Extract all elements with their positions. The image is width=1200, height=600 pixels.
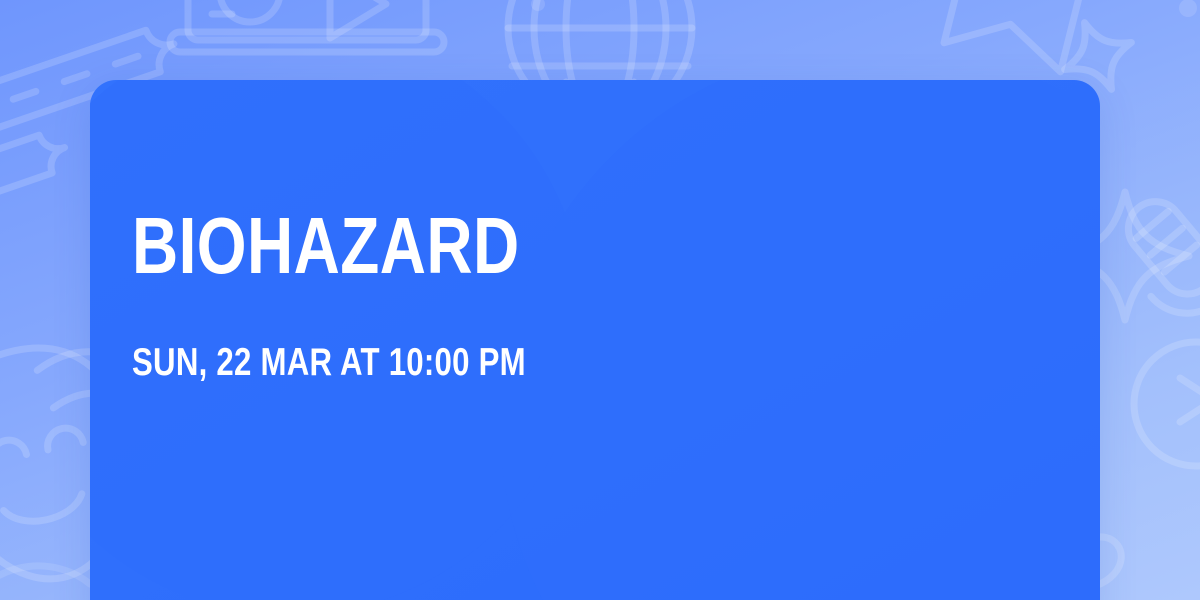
event-title: BIOHAZARD [132,204,520,288]
banner-icon [944,0,1086,72]
event-card-content: BIOHAZARD SUN, 22 MAR AT 10:00 PM [132,80,1060,600]
turntable-icon [170,0,444,52]
streamer-icon [0,566,90,600]
confetti-circle-icon [1134,342,1200,466]
dot-icon [531,0,545,11]
ticket-icon [0,129,71,209]
event-datetime: SUN, 22 MAR AT 10:00 PM [132,342,526,384]
microphone-icon [1102,178,1200,358]
dot-icon [1179,0,1197,17]
event-card-page: BIOHAZARD SUN, 22 MAR AT 10:00 PM [0,0,1200,600]
event-card[interactable]: BIOHAZARD SUN, 22 MAR AT 10:00 PM [90,80,1100,600]
